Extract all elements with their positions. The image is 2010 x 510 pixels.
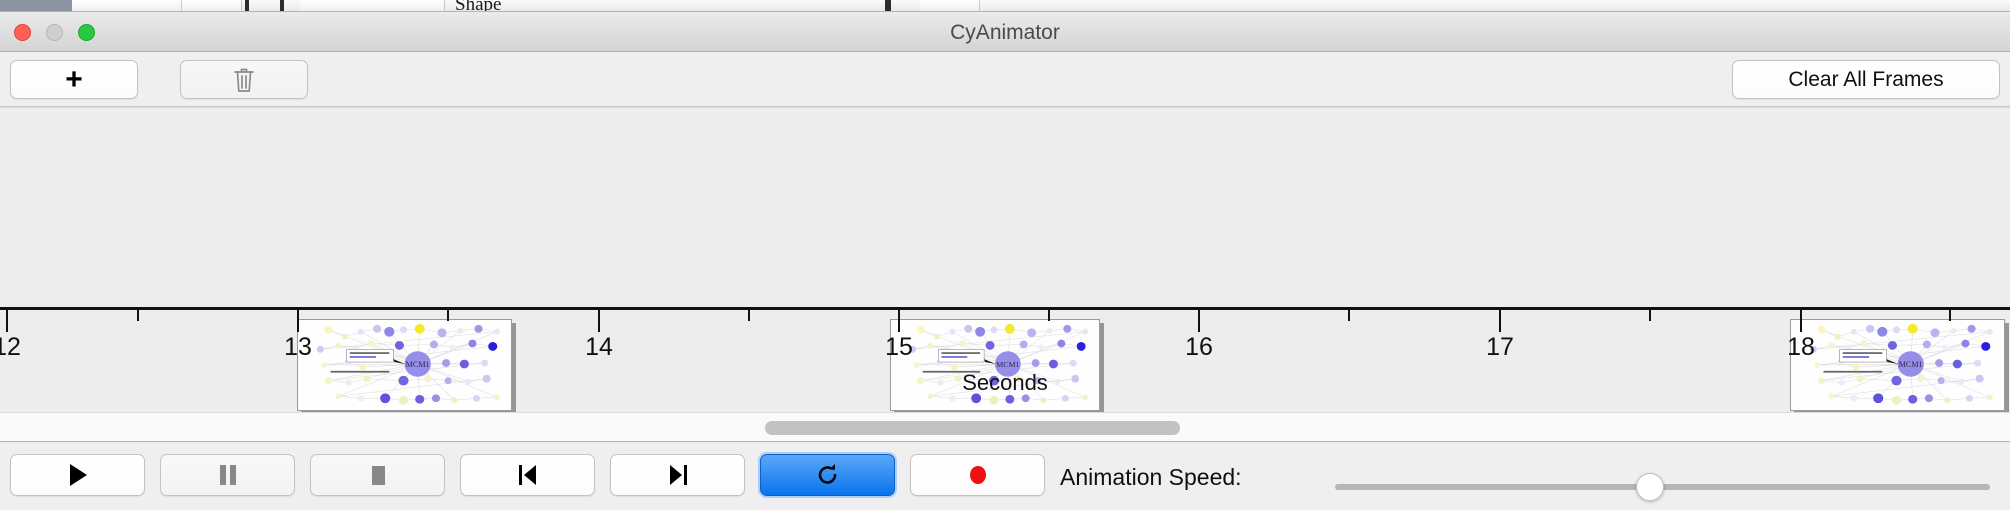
- axis-tick-label: 17: [1486, 333, 1514, 362]
- timeline-panel[interactable]: MCM1MCM1MCM1 12131415161718 Seconds: [0, 107, 2010, 412]
- timeline-axis: [0, 307, 2010, 310]
- playback-bar: Animation Speed:: [0, 443, 2010, 510]
- bg-segment-mark: [245, 0, 249, 11]
- clear-all-frames-label: Clear All Frames: [1788, 68, 1943, 92]
- pause-icon: [215, 461, 241, 489]
- bg-segment: [920, 0, 980, 11]
- bg-segment: [300, 0, 445, 11]
- play-button[interactable]: [10, 454, 145, 496]
- frame-thumbnail: MCM1: [298, 320, 511, 410]
- axis-tick-major: [6, 310, 8, 332]
- add-frame-button[interactable]: +: [10, 60, 138, 99]
- next-button[interactable]: [610, 454, 745, 496]
- axis-tick-minor: [447, 310, 449, 321]
- axis-tick-minor: [1949, 310, 1951, 321]
- axis-tick-label: 12: [0, 333, 21, 362]
- cyanimator-window: Shape CyAnimator + Clear All Frames MCM1…: [0, 0, 2010, 510]
- window-title: CyAnimator: [0, 21, 2010, 45]
- axis-tick-label: 13: [284, 333, 312, 362]
- axis-tick-minor: [1348, 310, 1350, 321]
- svg-text:MCM1: MCM1: [406, 360, 430, 369]
- record-button[interactable]: [910, 454, 1045, 496]
- animation-speed-slider-knob[interactable]: [1636, 473, 1664, 501]
- clear-all-frames-button[interactable]: Clear All Frames: [1732, 60, 2000, 99]
- skip-back-icon: [514, 461, 542, 489]
- timeline-frame[interactable]: MCM1: [890, 319, 1100, 411]
- play-icon: [65, 461, 91, 489]
- axis-tick-major: [1800, 310, 1802, 332]
- axis-tick-minor: [1649, 310, 1651, 321]
- animation-speed-label: Animation Speed:: [1060, 464, 1242, 491]
- axis-tick-major: [1499, 310, 1501, 332]
- axis-tick-label: 14: [585, 333, 613, 362]
- axis-tick-major: [1198, 310, 1200, 332]
- plus-icon: +: [65, 65, 83, 95]
- loop-button[interactable]: [760, 454, 895, 496]
- axis-tick-major: [297, 310, 299, 332]
- trash-icon: [232, 66, 256, 94]
- axis-tick-major: [598, 310, 600, 332]
- horizontal-scrollbar[interactable]: [0, 412, 2010, 442]
- bg-segment-mark: [280, 0, 284, 11]
- bg-segment: [72, 0, 182, 11]
- skip-forward-icon: [664, 461, 692, 489]
- timeline-frame[interactable]: MCM1: [297, 319, 512, 411]
- stop-button[interactable]: [310, 454, 445, 496]
- axis-tick-label: 16: [1185, 333, 1213, 362]
- svg-text:MCM1: MCM1: [996, 360, 1019, 369]
- axis-tick-minor: [1048, 310, 1050, 321]
- bg-segment-mark: [885, 0, 891, 11]
- stop-icon: [365, 461, 391, 489]
- timeline-top-divider: [0, 107, 2010, 108]
- axis-tick-minor: [137, 310, 139, 321]
- axis-tick-major: [898, 310, 900, 332]
- axis-tick-label: 15: [885, 333, 913, 362]
- frame-thumbnail: MCM1: [1791, 320, 2004, 410]
- background-window-strip: Shape: [0, 0, 2010, 12]
- previous-button[interactable]: [460, 454, 595, 496]
- svg-text:MCM1: MCM1: [1899, 360, 1923, 369]
- titlebar: CyAnimator: [0, 12, 2010, 52]
- record-icon: [964, 461, 992, 489]
- axis-tick-minor: [748, 310, 750, 321]
- timeline-frame[interactable]: MCM1: [1790, 319, 2005, 411]
- axis-tick-label: 18: [1787, 333, 1815, 362]
- axis-title: Seconds: [0, 370, 2010, 396]
- scrollbar-thumb[interactable]: [765, 421, 1180, 435]
- loop-icon: [814, 461, 842, 489]
- toolbar: + Clear All Frames: [0, 52, 2010, 107]
- frame-thumbnail: MCM1: [891, 320, 1099, 410]
- background-window-label: Shape: [455, 0, 501, 12]
- bg-segment: [182, 0, 242, 11]
- bg-segment-selected: [0, 0, 72, 11]
- delete-frame-button[interactable]: [180, 60, 308, 99]
- pause-button[interactable]: [160, 454, 295, 496]
